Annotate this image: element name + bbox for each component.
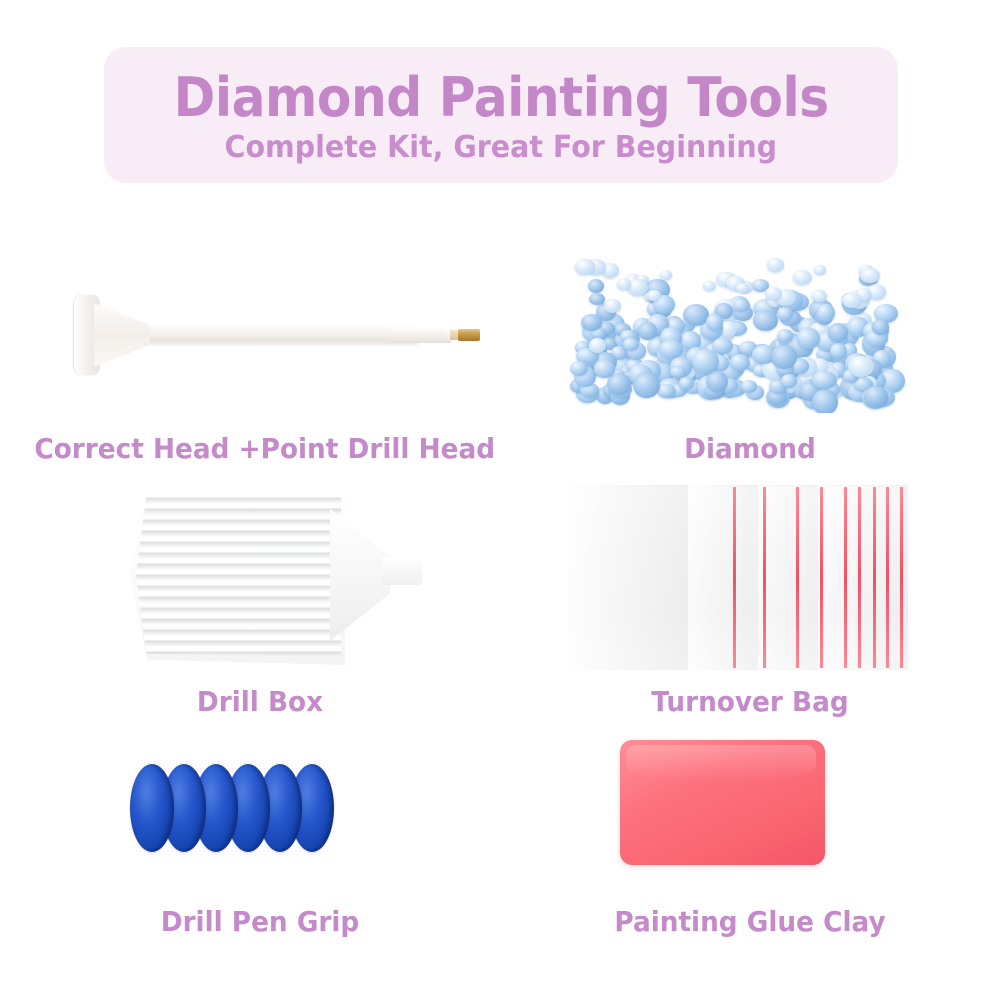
bag-edge-stripe xyxy=(858,487,861,668)
bag-edge-stripe xyxy=(796,487,799,668)
tray-ribs-icon xyxy=(136,493,341,657)
item-label-drill-pen-grip: Drill Pen Grip xyxy=(34,905,485,938)
diamond-bead xyxy=(588,279,604,293)
drill-box-illustration xyxy=(20,465,500,675)
pen-brass-tip-icon xyxy=(458,329,480,341)
product-item-diamond[interactable]: Diamond xyxy=(520,220,980,420)
diamond-bead xyxy=(594,360,616,377)
diamond-bead xyxy=(617,279,631,290)
diamond-bead xyxy=(741,380,757,393)
product-item-correct-head-point-drill-head[interactable]: Correct Head +Point Drill Head xyxy=(20,220,500,420)
bag-sheen xyxy=(818,485,908,670)
clay-gloss-highlight xyxy=(626,745,816,781)
glue-clay-illustration xyxy=(520,740,980,890)
drill-pen-icon xyxy=(60,285,480,385)
diamond-bead-pile-icon xyxy=(568,258,908,413)
diamond-bead xyxy=(589,338,606,353)
pen-flare-icon xyxy=(94,303,156,367)
drill-tray-icon xyxy=(130,485,420,665)
diamond-bead xyxy=(647,290,661,301)
pen-grip-illustration xyxy=(20,740,500,890)
diamond-bead xyxy=(753,310,778,331)
product-item-painting-glue-clay[interactable]: Painting Glue Clay xyxy=(520,740,980,890)
zip-bag-stack-icon xyxy=(568,485,908,670)
diamond-bead xyxy=(814,265,826,275)
bag-edge-stripe xyxy=(733,487,736,668)
bag-sheen xyxy=(568,485,688,670)
diamond-bead xyxy=(706,371,727,392)
diamond-bead xyxy=(638,322,657,339)
bag-sheen xyxy=(688,485,758,670)
diamond-bead xyxy=(793,270,813,286)
diamond-bead xyxy=(733,299,750,313)
diamond-bead xyxy=(581,314,601,331)
glue-clay-icon xyxy=(620,740,825,865)
diamond-bead xyxy=(692,349,719,374)
tray-handle-icon xyxy=(382,557,422,585)
diamond-bead xyxy=(797,328,819,350)
pen-grip-icon xyxy=(130,758,350,863)
diamond-bead xyxy=(589,293,605,305)
diamond-bead xyxy=(781,374,797,388)
diamond-bead xyxy=(817,304,835,322)
diamond-bead xyxy=(706,314,723,330)
pen-body-icon xyxy=(150,323,418,346)
tray-nose-icon xyxy=(330,509,390,641)
item-label-turnover-bag: Turnover Bag xyxy=(534,685,966,718)
product-item-drill-pen-grip[interactable]: Drill Pen Grip xyxy=(20,740,500,890)
item-label-correct-head-point-drill-head: Correct Head +Point Drill Head xyxy=(34,432,485,465)
diamond-bead xyxy=(660,270,672,280)
diamond-bead xyxy=(830,343,846,359)
product-item-drill-box[interactable]: Drill Box xyxy=(20,465,500,675)
bag-edge-stripe xyxy=(900,487,903,668)
turnover-bag-illustration xyxy=(520,465,980,675)
item-label-diamond: Diamond xyxy=(534,432,966,465)
page-title: Diamond Painting Tools xyxy=(173,70,828,127)
diamond-beads-illustration xyxy=(520,220,980,420)
diamond-bead xyxy=(777,329,793,343)
bag-edge-stripe xyxy=(873,487,876,668)
item-label-painting-glue-clay: Painting Glue Clay xyxy=(534,905,966,938)
diamond-bead xyxy=(848,356,874,377)
item-label-drill-box: Drill Box xyxy=(34,685,485,718)
page-subtitle: Complete Kit, Great For Beginning xyxy=(225,131,777,164)
diamond-bead xyxy=(872,319,889,334)
grip-segment xyxy=(130,764,174,852)
diamond-bead xyxy=(633,372,660,398)
diamond-bead xyxy=(767,258,784,272)
bag-edge-stripe xyxy=(763,487,766,668)
drill-pen-illustration xyxy=(20,220,500,420)
diamond-bead xyxy=(812,389,839,413)
diamond-bead xyxy=(683,304,709,326)
diamond-bead xyxy=(771,345,798,368)
header-banner: Diamond Painting Tools Complete Kit, Gre… xyxy=(104,47,898,183)
diamond-bead xyxy=(679,377,694,390)
diamond-bead xyxy=(604,299,621,312)
pen-body-segment-icon xyxy=(390,327,452,343)
diamond-bead xyxy=(842,293,861,308)
diamond-bead xyxy=(812,371,836,389)
diamond-bead xyxy=(828,323,848,342)
bag-edge-stripe xyxy=(844,487,847,668)
bag-edge-stripe xyxy=(820,487,823,668)
bag-sheen xyxy=(758,485,818,670)
diamond-bead xyxy=(703,281,716,291)
diamond-bead xyxy=(777,307,792,321)
product-grid: Correct Head +Point Drill Head Diamond D… xyxy=(0,200,1000,1000)
diamond-bead xyxy=(575,259,594,274)
bag-edge-stripe xyxy=(886,487,889,668)
diamond-bead xyxy=(765,287,782,301)
diamond-bead xyxy=(860,268,879,283)
product-item-turnover-bag[interactable]: Turnover Bag xyxy=(520,465,980,675)
